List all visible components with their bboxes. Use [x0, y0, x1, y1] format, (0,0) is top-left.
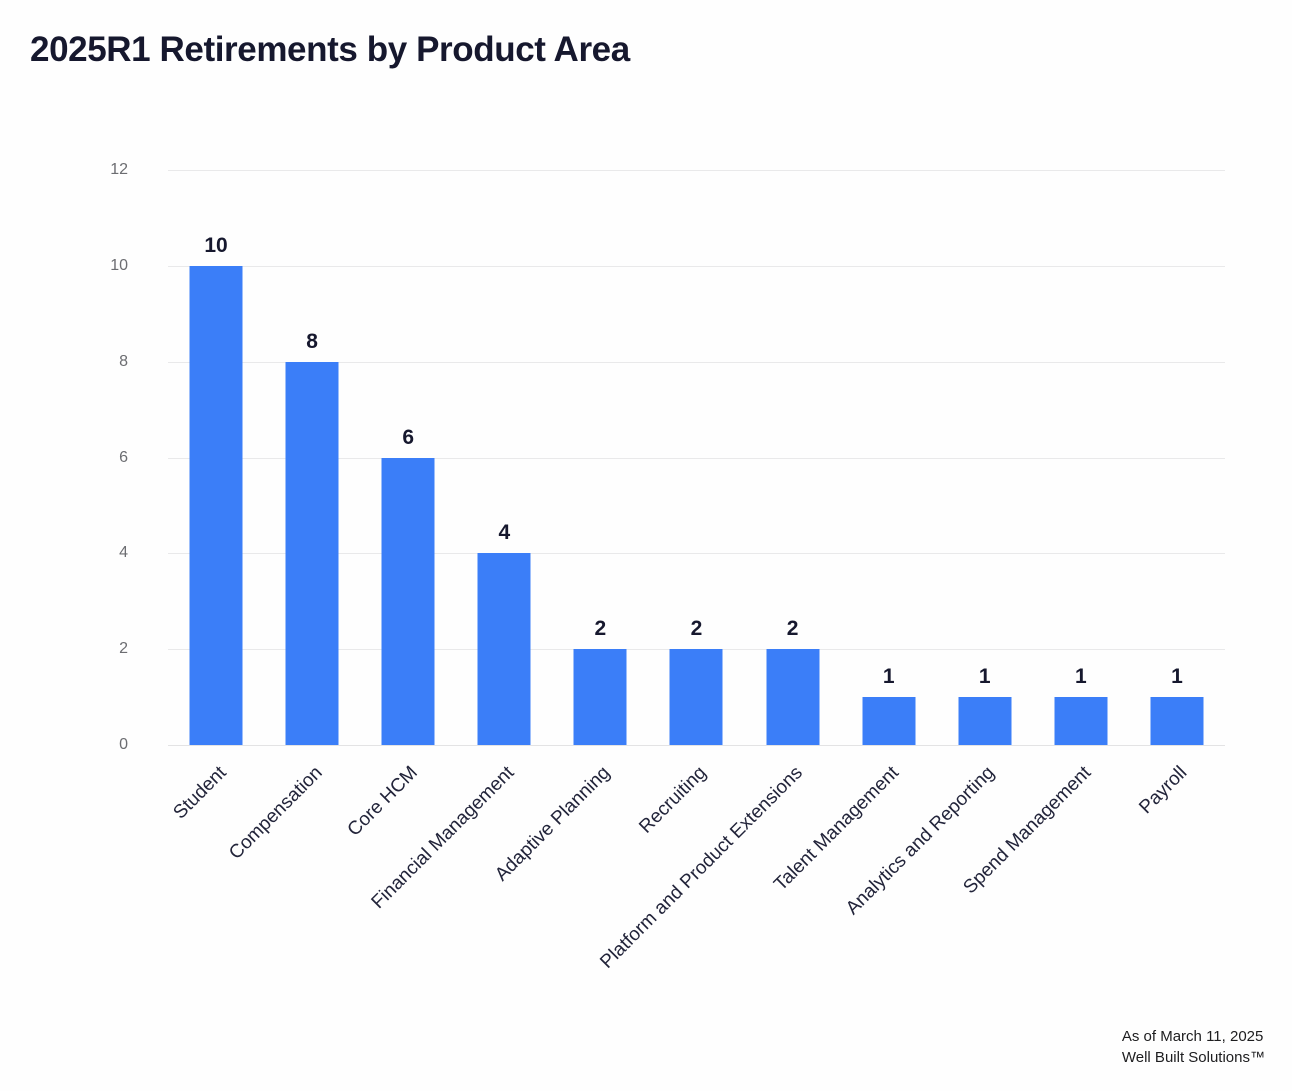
bar-group: 1 — [1033, 170, 1129, 745]
bar-value-label: 2 — [787, 617, 799, 641]
bar-group: 2 — [648, 170, 744, 745]
bar[interactable] — [382, 458, 435, 746]
bar-group: 8 — [264, 170, 360, 745]
bar[interactable] — [478, 553, 531, 745]
footer-note: As of March 11, 2025 Well Built Solution… — [1122, 1026, 1265, 1070]
y-axis-tick-label: 12 — [110, 161, 128, 179]
footer-attribution: Well Built Solutions™ — [1122, 1047, 1265, 1069]
bar[interactable] — [766, 649, 819, 745]
x-axis-tick-label: Platform and Product Extensions — [597, 763, 807, 973]
bar-value-label: 8 — [306, 330, 318, 354]
y-axis-tick-label: 6 — [119, 449, 128, 467]
bar-value-label: 1 — [1171, 665, 1183, 689]
x-axis-category-labels: StudentCompensationCore HCMFinancial Man… — [168, 745, 1225, 1075]
x-axis-tick-label: Recruiting — [636, 763, 711, 838]
y-axis: 024681012 — [0, 170, 150, 745]
y-axis-tick-label: 4 — [119, 544, 128, 562]
bar-value-label: 1 — [979, 665, 991, 689]
bar[interactable] — [958, 697, 1011, 745]
bar-value-label: 1 — [883, 665, 895, 689]
x-axis-tick-label: Core HCM — [345, 763, 423, 841]
x-axis-tick-label: Student — [170, 763, 231, 824]
bar-group: 6 — [360, 170, 456, 745]
y-axis-tick-label: 8 — [119, 353, 128, 371]
y-axis-tick-label: 10 — [110, 257, 128, 275]
bar-group: 1 — [1129, 170, 1225, 745]
y-axis-tick-label: 0 — [119, 736, 128, 754]
bar-group: 2 — [745, 170, 841, 745]
bar-value-label: 6 — [402, 426, 414, 450]
footer-as-of-date: As of March 11, 2025 — [1122, 1026, 1265, 1048]
bar-value-label: 2 — [691, 617, 703, 641]
bar-value-label: 1 — [1075, 665, 1087, 689]
bar-value-label: 4 — [498, 521, 510, 545]
bars-layer: 108642221111 — [168, 170, 1225, 745]
x-axis-tick-label: Compensation — [225, 763, 326, 864]
bar[interactable] — [286, 362, 339, 745]
bar-group: 1 — [937, 170, 1033, 745]
bar[interactable] — [1150, 697, 1203, 745]
y-axis-tick-label: 2 — [119, 640, 128, 658]
bar[interactable] — [190, 266, 243, 745]
bar[interactable] — [670, 649, 723, 745]
chart-page: 2025R1 Retirements by Product Area 02468… — [0, 0, 1292, 1091]
bar[interactable] — [574, 649, 627, 745]
x-axis-tick-label: Payroll — [1136, 763, 1192, 819]
bar-group: 4 — [456, 170, 552, 745]
bar[interactable] — [1054, 697, 1107, 745]
page-title: 2025R1 Retirements by Product Area — [30, 30, 630, 70]
bar[interactable] — [862, 697, 915, 745]
bar-group: 10 — [168, 170, 264, 745]
bar-value-label: 2 — [595, 617, 607, 641]
bar-group: 1 — [841, 170, 937, 745]
bar-value-label: 10 — [204, 234, 227, 258]
bar-group: 2 — [552, 170, 648, 745]
